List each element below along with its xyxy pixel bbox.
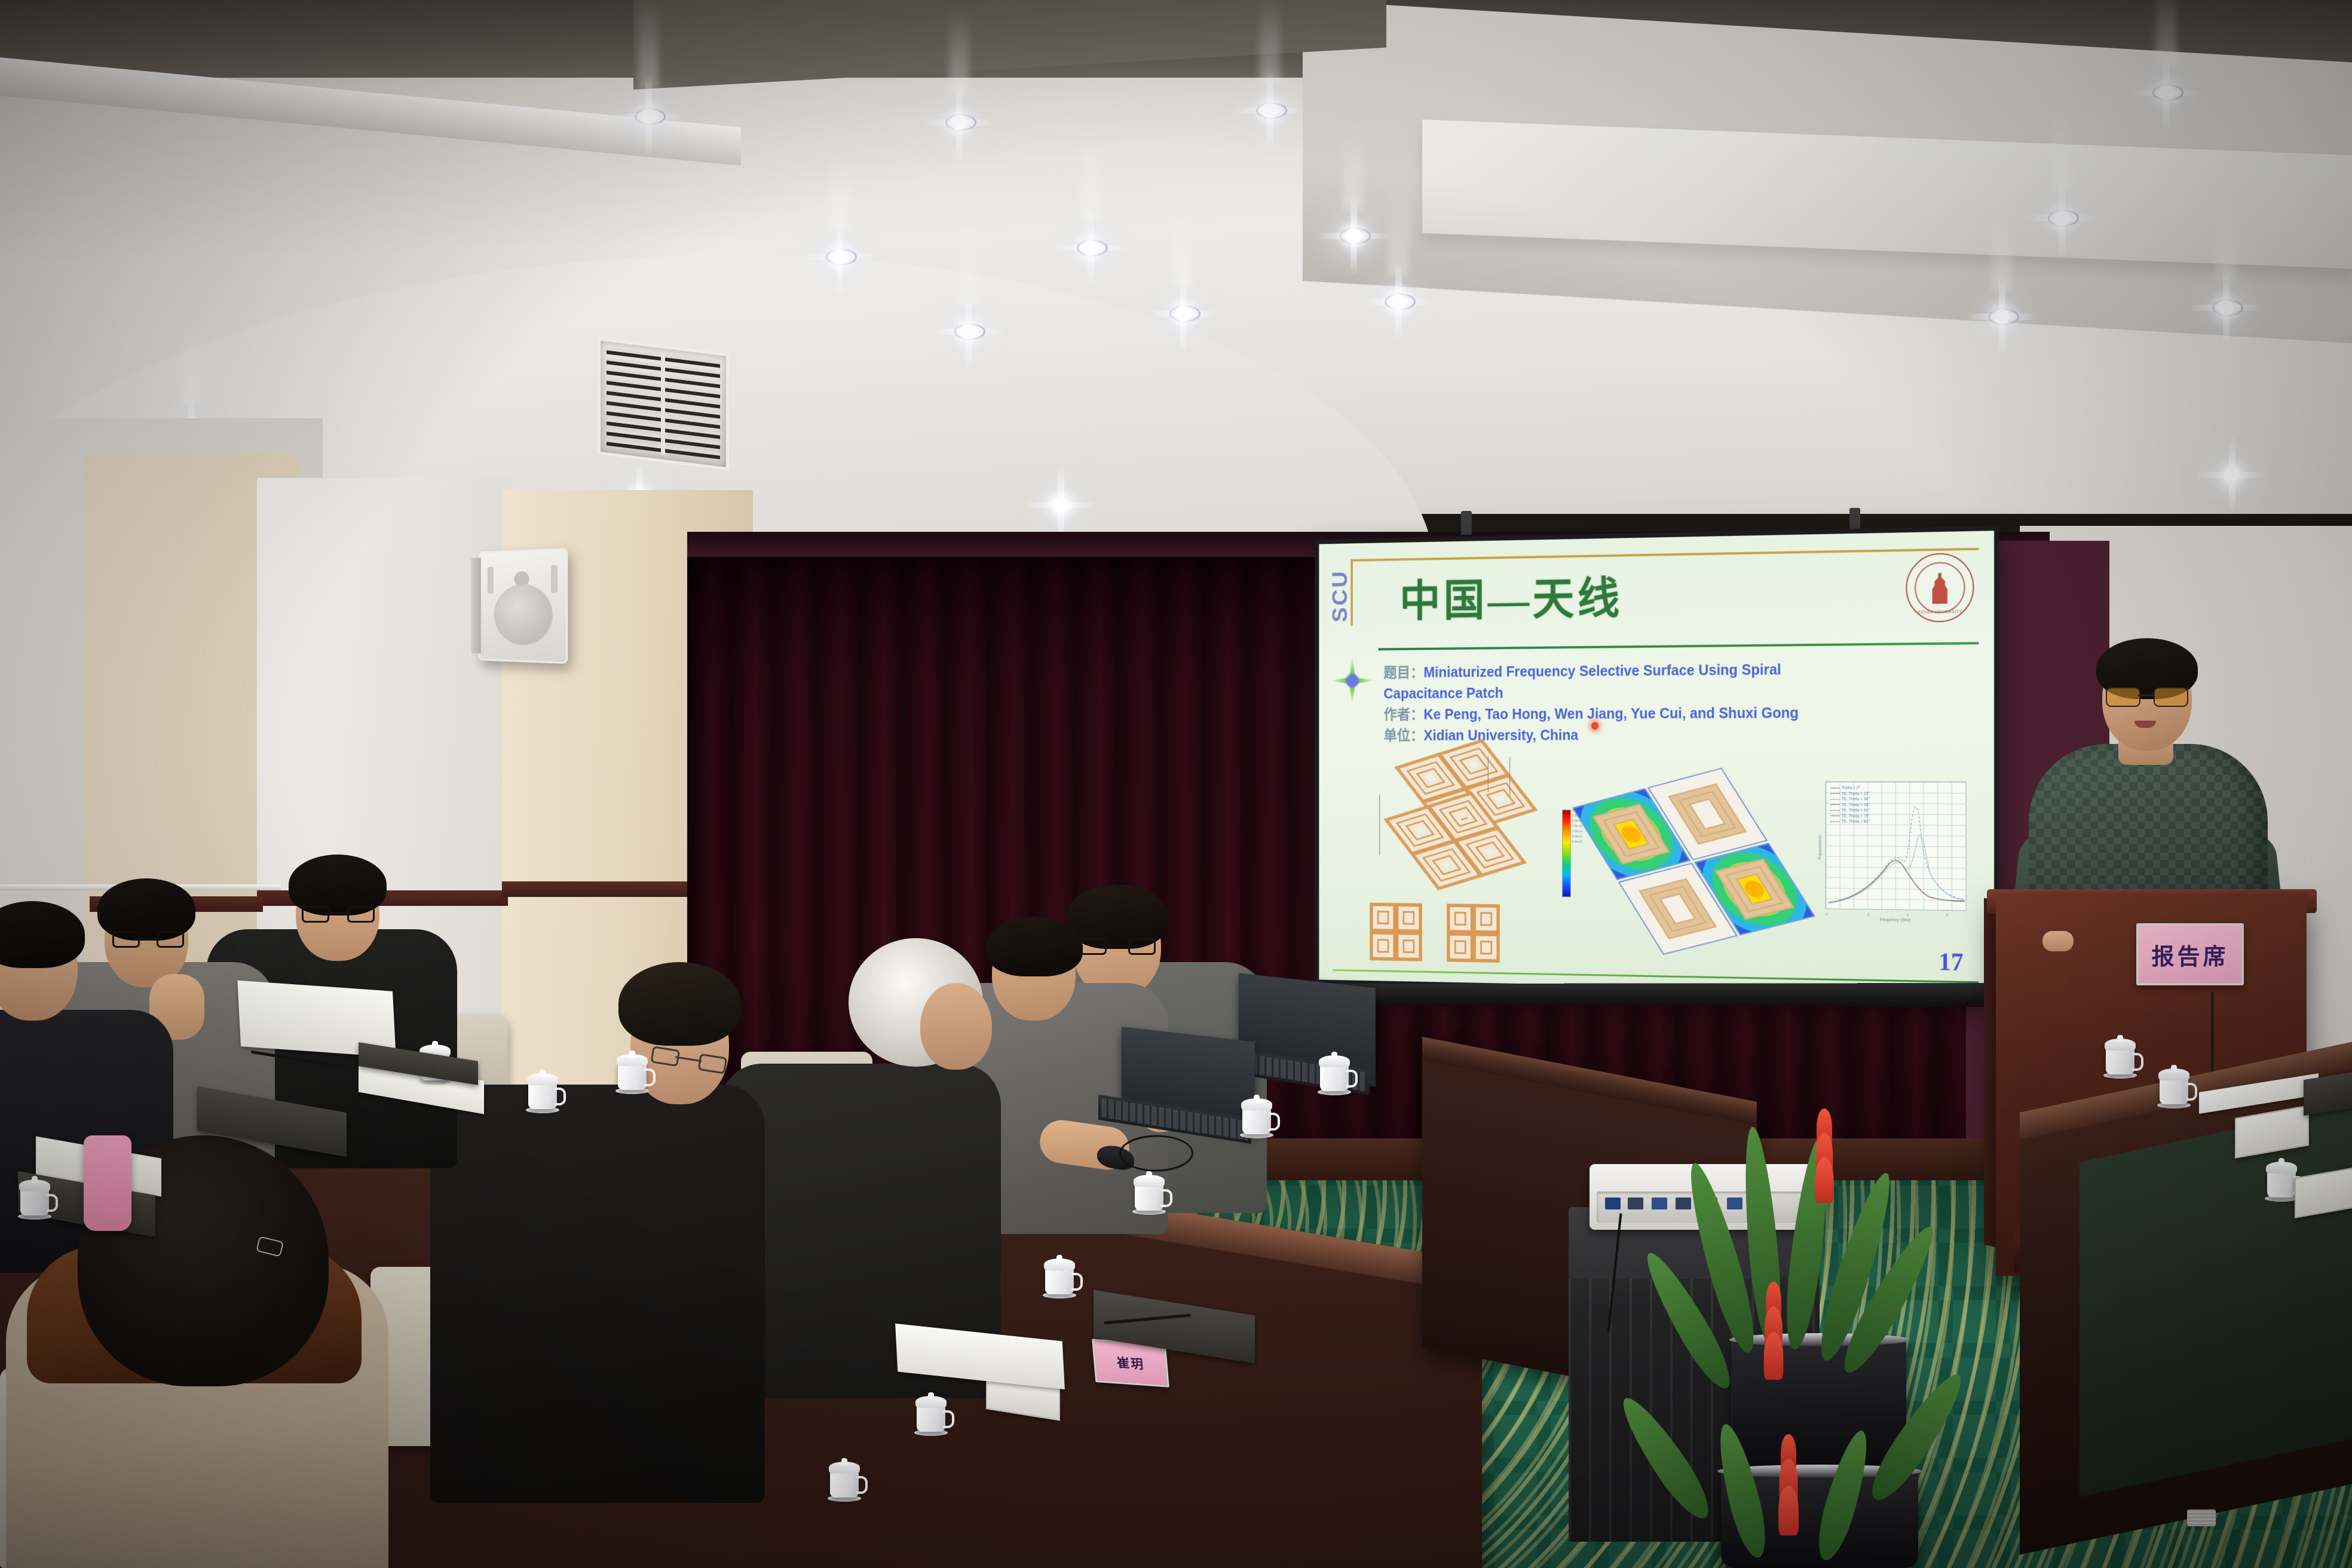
teacup[interactable] <box>1132 1171 1166 1214</box>
podium-sign-text: 报告席 <box>2151 938 2228 971</box>
speaker-hand <box>2042 931 2074 951</box>
tent-card-text: 崔玥 <box>1116 1353 1145 1373</box>
teacup[interactable] <box>1240 1095 1273 1138</box>
figure-unit-cell-b <box>1447 904 1499 961</box>
bromeliad-flower <box>1754 1282 1793 1371</box>
screen-mount-left <box>1461 511 1472 535</box>
projection-screen: SCU 中国—天线 XIDIAN UNIVERSITY 题目：Miniaturi… <box>1315 526 1999 998</box>
figure-unit-cell-a <box>1370 903 1421 960</box>
seal-caption: XIDIAN UNIVERSITY <box>1907 610 1973 615</box>
slide-gold-rule <box>1350 548 1979 562</box>
xidian-university-seal-icon: XIDIAN UNIVERSITY <box>1906 553 1974 623</box>
topic-line-2: Capacitance Patch <box>1383 679 1976 705</box>
projected-slide: SCU 中国—天线 XIDIAN UNIVERSITY 题目：Miniaturi… <box>1319 531 1994 993</box>
teacup[interactable] <box>615 1051 649 1094</box>
screen-bottom-bar <box>1307 983 2005 1007</box>
figure-colorbar <box>1562 810 1571 897</box>
slide-page-number: 17 <box>1938 948 1963 977</box>
conference-room-photo: SCU 中国—天线 XIDIAN UNIVERSITY 题目：Miniaturi… <box>0 0 2352 1568</box>
plot-xlabel: Frequency (GHz) <box>1880 918 1911 923</box>
pink-thermos[interactable] <box>84 1135 131 1231</box>
speaker-glasses-icon <box>2106 687 2188 705</box>
laser-pointer-dot <box>1591 722 1598 730</box>
teacup[interactable] <box>2265 1158 2298 1201</box>
slide-title-cn: 中国—天线 <box>1399 562 1623 629</box>
teacup[interactable] <box>2103 1035 2137 1078</box>
affiliation-value: Xidian University, China <box>1423 727 1578 743</box>
teacup[interactable] <box>1043 1255 1076 1298</box>
bromeliad-flower <box>1805 1108 1844 1198</box>
plot-curves <box>1826 782 1966 910</box>
teacup[interactable] <box>526 1070 559 1113</box>
bromeliad-flower <box>1769 1434 1808 1524</box>
air-vent-grille <box>598 337 729 470</box>
teacup[interactable] <box>1318 1052 1351 1095</box>
label-authors: 作者： <box>1383 707 1423 723</box>
star-decoration-icon <box>1330 656 1375 705</box>
wall-speaker <box>478 548 568 664</box>
teacup[interactable] <box>18 1176 51 1219</box>
figure-frequency-plot: Theta = 0° TE, Theta = 15° TE, Theta = 3… <box>1826 782 1967 911</box>
label-affiliation: 单位： <box>1383 728 1423 744</box>
topic-line-1: Miniaturized Frequency Selective Surface… <box>1423 661 1781 681</box>
slide-green-rule <box>1379 642 1979 650</box>
label-topic: 题目： <box>1383 664 1423 681</box>
teacup[interactable] <box>828 1458 861 1501</box>
slide-body-text: 题目：Miniaturized Frequency Selective Surf… <box>1383 657 1976 746</box>
slide-authors-row: 作者：Ke Peng, Tao Hong, Wen Jiang, Yue Cui… <box>1383 702 1976 725</box>
podium-name-card: 报告席 <box>2136 923 2244 985</box>
authors-value: Ke Peng, Tao Hong, Wen Jiang, Yue Cui, a… <box>1423 705 1798 723</box>
figure-stacked-patch <box>1376 765 1554 897</box>
slide-brand-mark: SCU <box>1328 569 1352 623</box>
plot-ylabel: Transmission <box>1818 835 1823 859</box>
teacup[interactable] <box>914 1392 948 1435</box>
teacup[interactable] <box>2157 1065 2191 1108</box>
slide-footer-rule <box>1333 969 1979 983</box>
table-right-front-panel <box>2080 1102 2352 1497</box>
figure-current-distribution <box>1572 759 1849 961</box>
